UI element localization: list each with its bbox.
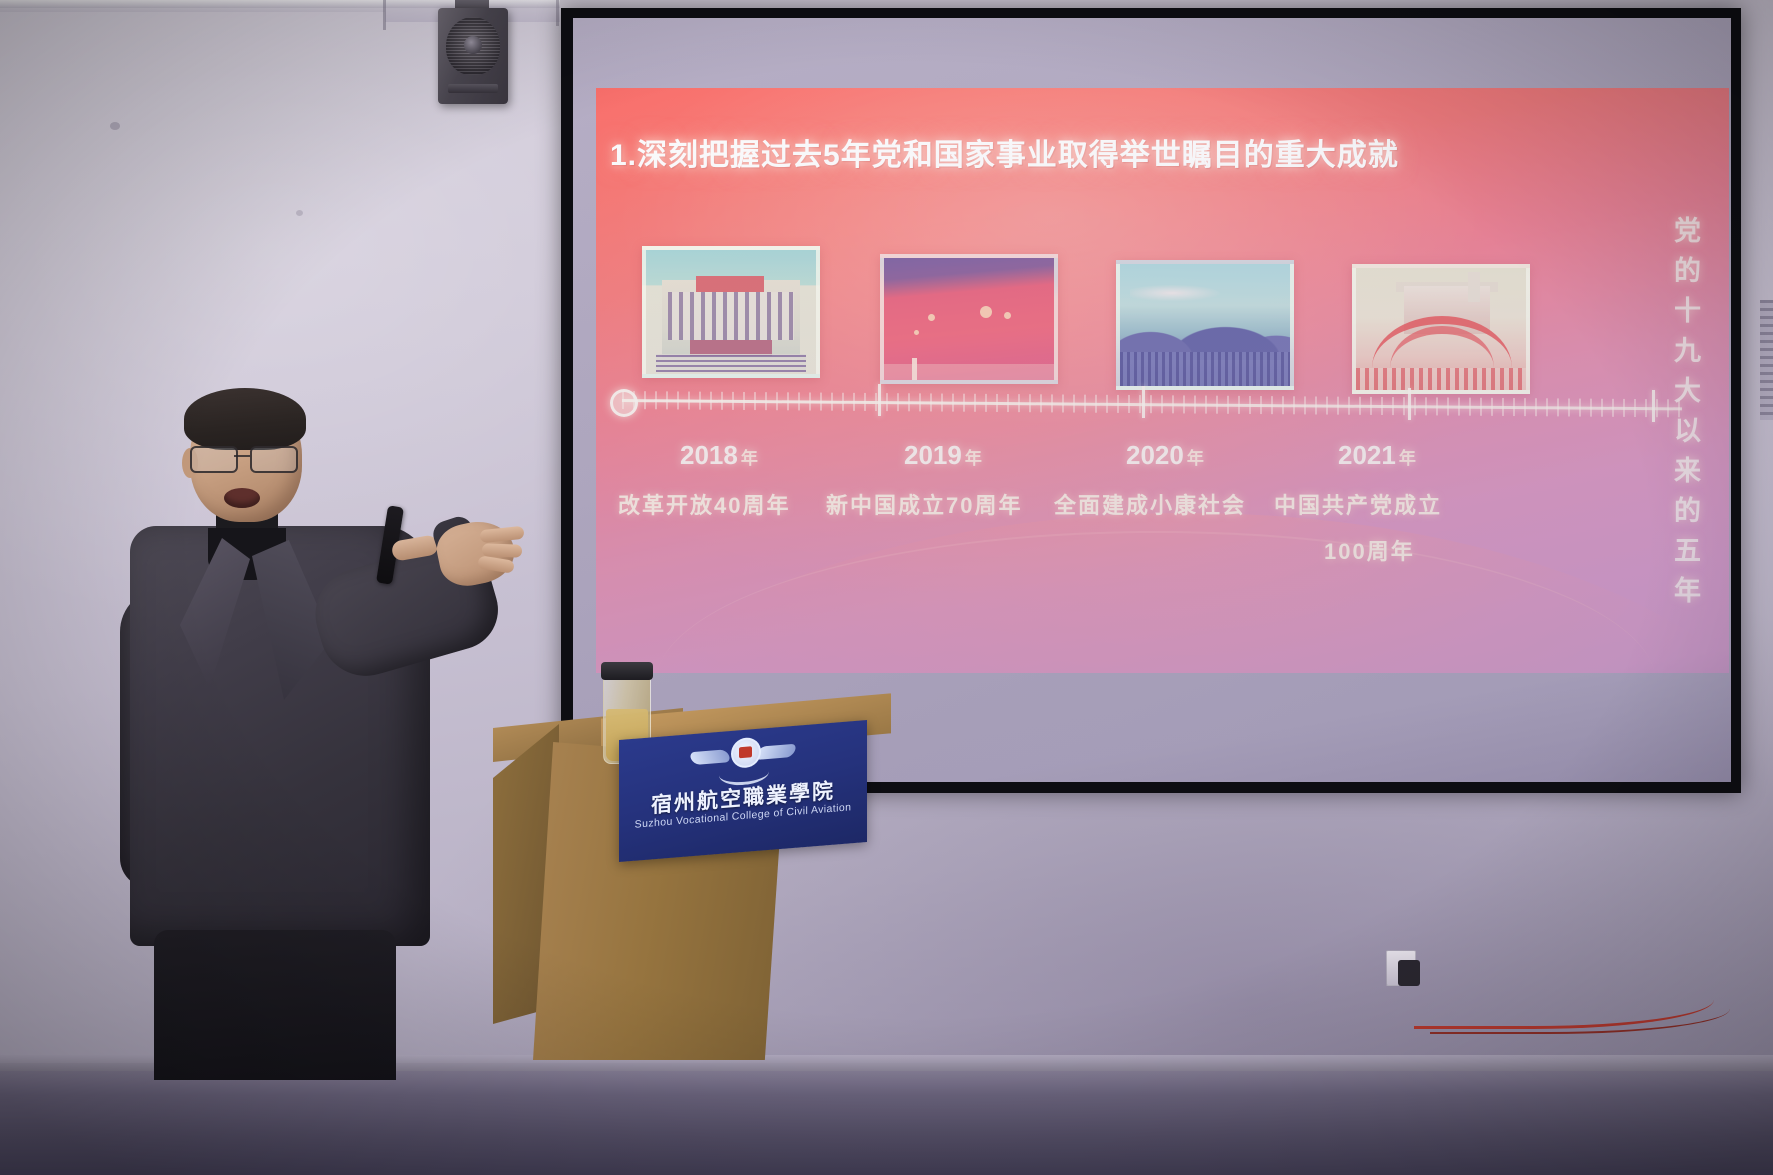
speaker-cone-icon xyxy=(464,36,482,54)
wall-joint-right xyxy=(556,0,559,26)
presenter-trousers xyxy=(154,930,396,1080)
wall-speaker xyxy=(438,8,508,104)
slide-photo-green-mountains-landscape xyxy=(1116,260,1294,390)
slide-title: 1.深刻把握过去5年党和国家事业取得举世瞩目的重大成就 xyxy=(610,130,1570,174)
timeline-caption-2021: 中国共产党成立 xyxy=(1274,488,1442,520)
timeline-year-2020: 2020年 xyxy=(1126,440,1204,471)
presentation-room-photo: 1.深刻把握过去5年党和国家事业取得举世瞩目的重大成就 党的十九大以来的五年 xyxy=(0,0,1773,1175)
wall-joint-left xyxy=(383,0,386,30)
wall-mark-2 xyxy=(296,210,303,216)
slide-bottom-wave-2 xyxy=(656,531,1656,673)
timeline-caption-2021-line2: 100周年 xyxy=(1324,534,1415,566)
timeline-caption-2018: 改革开放40周年 xyxy=(618,488,790,520)
timeline-caption-2019: 新中国成立70周年 xyxy=(826,488,1022,520)
lectern: 宿州航空職業學院 Suzhou Vocational College of Ci… xyxy=(493,700,893,1060)
timeline-tick-2020 xyxy=(1408,388,1411,420)
wall-mark-1 xyxy=(110,122,120,130)
wall-vent xyxy=(1760,300,1773,420)
timeline-year-2019: 2019年 xyxy=(904,440,982,471)
timeline-year-2021: 2021年 xyxy=(1338,440,1416,471)
civil-aviation-wings-emblem-icon xyxy=(691,732,795,782)
presenter-hair xyxy=(184,388,306,450)
slide-timeline xyxy=(610,398,1700,402)
speaker-base xyxy=(448,84,498,93)
timeline-tick-2021 xyxy=(1652,390,1655,422)
slide-photo-tiananmen-ceremony xyxy=(1352,264,1530,394)
lectern-college-plaque: 宿州航空職業學院 Suzhou Vocational College of Ci… xyxy=(619,720,867,862)
presenter-finger-2 xyxy=(482,543,522,557)
presenter-mouth xyxy=(224,488,260,508)
presenter-glasses-icon xyxy=(186,446,304,470)
slide-photo-strip xyxy=(642,240,1522,382)
timeline-caption-2020: 全面建成小康社会 xyxy=(1054,488,1246,520)
timeline-tick-2019 xyxy=(1142,386,1145,418)
timeline-start-marker xyxy=(610,389,638,417)
slide-photo-great-hall-of-the-people xyxy=(642,246,820,378)
projected-slide: 1.深刻把握过去5年党和国家事业取得举世瞩目的重大成就 党的十九大以来的五年 xyxy=(596,88,1729,673)
timeline-year-2018: 2018年 xyxy=(680,440,758,471)
water-bottle-cap xyxy=(601,662,653,680)
presenter xyxy=(120,388,520,1068)
timeline-tick-2018 xyxy=(878,384,881,416)
slide-photo-national-day-celebration xyxy=(880,254,1058,384)
